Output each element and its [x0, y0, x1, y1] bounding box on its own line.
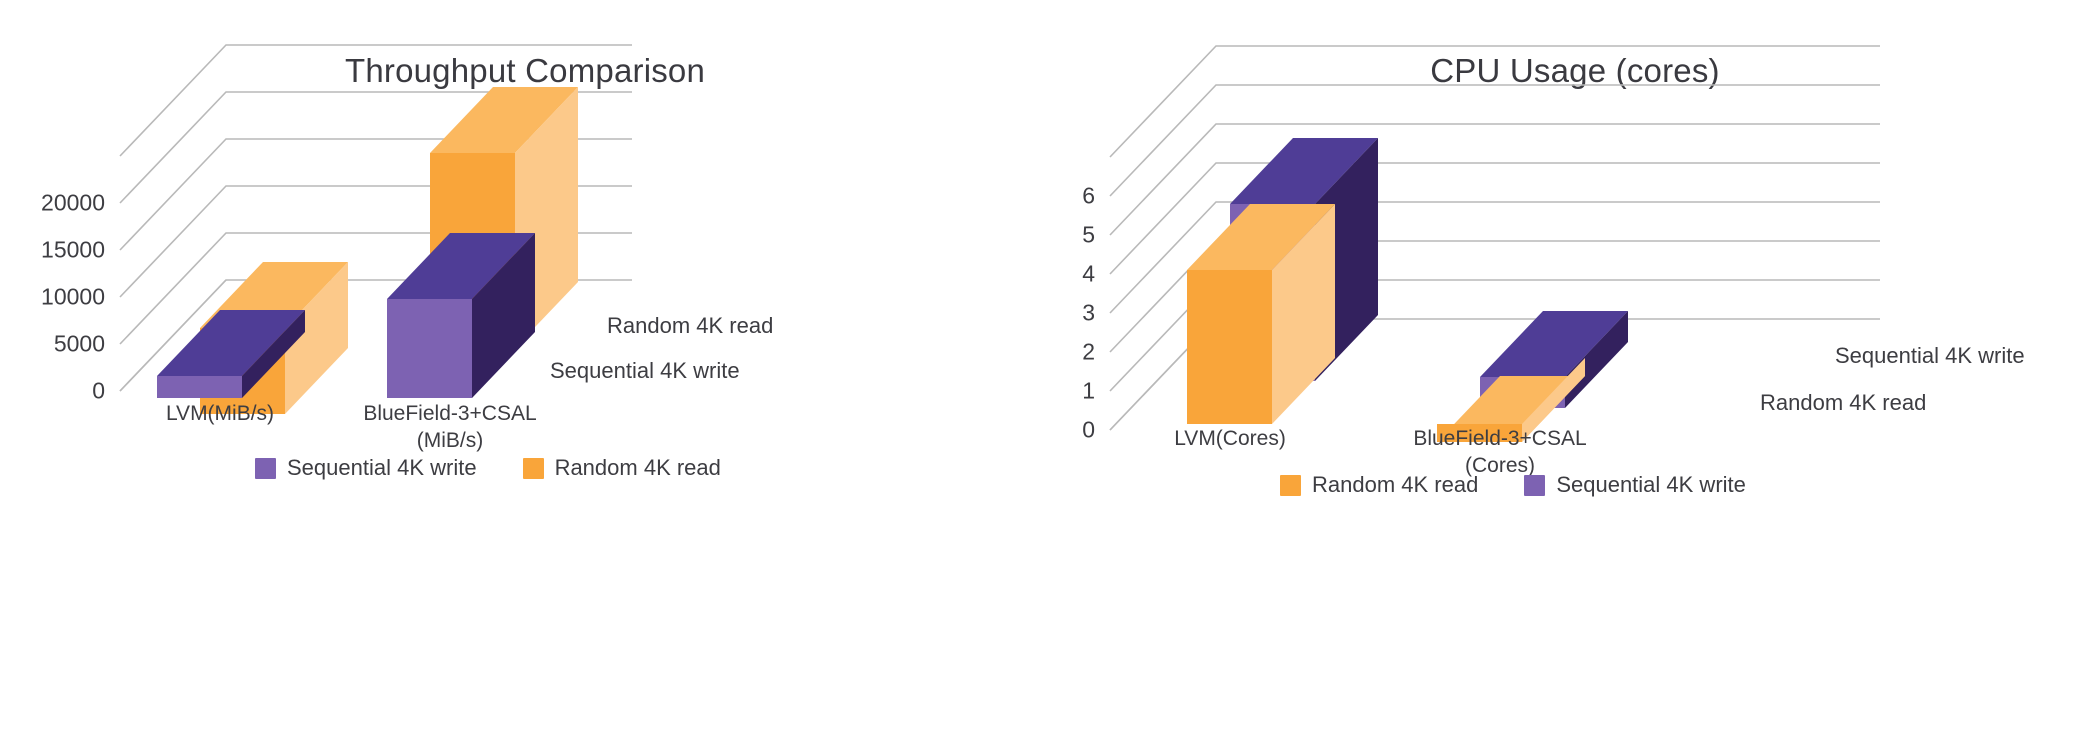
depth-label-cpu-sequential: Sequential 4K write: [1835, 343, 2025, 369]
xcat-cpu-lvm: LVM(Cores): [1125, 425, 1335, 452]
legend-label-sequential-4k-write: Sequential 4K write: [287, 455, 477, 481]
ytick-throughput-3: 15000: [0, 237, 105, 264]
legend-swatch-purple-icon: [1524, 475, 1545, 496]
legend-item-random-4k-read[interactable]: Random 4K read: [1280, 472, 1478, 498]
legend-cpu: Random 4K read Sequential 4K write: [1280, 472, 1746, 498]
legend-label-random-4k-read: Random 4K read: [555, 455, 721, 481]
ytick-throughput-0: 0: [0, 378, 105, 405]
legend-item-random-4k-read[interactable]: Random 4K read: [523, 455, 721, 481]
legend-item-sequential-4k-write[interactable]: Sequential 4K write: [255, 455, 477, 481]
charts-container: Throughput Comparison: [0, 0, 2100, 733]
plot-area-cpu: 0 1 2 3 4 5 6 LVM(Cores) BlueField-3+CSA…: [1050, 0, 2100, 733]
legend-label-sequential-4k-write: Sequential 4K write: [1556, 472, 1746, 498]
ytick-throughput-1: 5000: [0, 331, 105, 358]
bar-lvm-random4kread: [1187, 204, 1335, 424]
legend-label-random-4k-read: Random 4K read: [1312, 472, 1478, 498]
chart-cpu-usage: CPU Usage (cores): [1050, 0, 2100, 733]
depth-label-cpu-random: Random 4K read: [1760, 390, 1926, 416]
depth-label-throughput-sequential: Sequential 4K write: [550, 358, 740, 384]
ytick-cpu-2: 2: [1050, 339, 1095, 366]
ytick-cpu-5: 5: [1050, 222, 1095, 249]
xcat-throughput-bluefield: BlueField-3+CSAL (MiB/s): [320, 400, 580, 455]
ytick-cpu-4: 4: [1050, 261, 1095, 288]
legend-swatch-orange-icon: [523, 458, 544, 479]
throughput-3d-svg: [0, 0, 1050, 733]
ytick-cpu-6: 6: [1050, 183, 1095, 210]
chart-throughput-comparison: Throughput Comparison: [0, 0, 1050, 733]
ytick-cpu-1: 1: [1050, 378, 1095, 405]
legend-item-sequential-4k-write[interactable]: Sequential 4K write: [1524, 472, 1746, 498]
depth-label-throughput-random: Random 4K read: [607, 313, 773, 339]
ytick-cpu-3: 3: [1050, 300, 1095, 327]
ytick-throughput-4: 20000: [0, 190, 105, 217]
ytick-throughput-2: 10000: [0, 284, 105, 311]
legend-throughput: Sequential 4K write Random 4K read: [255, 455, 721, 481]
legend-swatch-purple-icon: [255, 458, 276, 479]
legend-swatch-orange-icon: [1280, 475, 1301, 496]
bar-bluefield-sequential4kwrite: [387, 233, 535, 398]
xcat-throughput-lvm: LVM(MiB/s): [105, 400, 335, 427]
plot-area-throughput: 0 5000 10000 15000 20000 LVM(MiB/s) Blue…: [0, 0, 1050, 733]
ytick-cpu-0: 0: [1050, 417, 1095, 444]
